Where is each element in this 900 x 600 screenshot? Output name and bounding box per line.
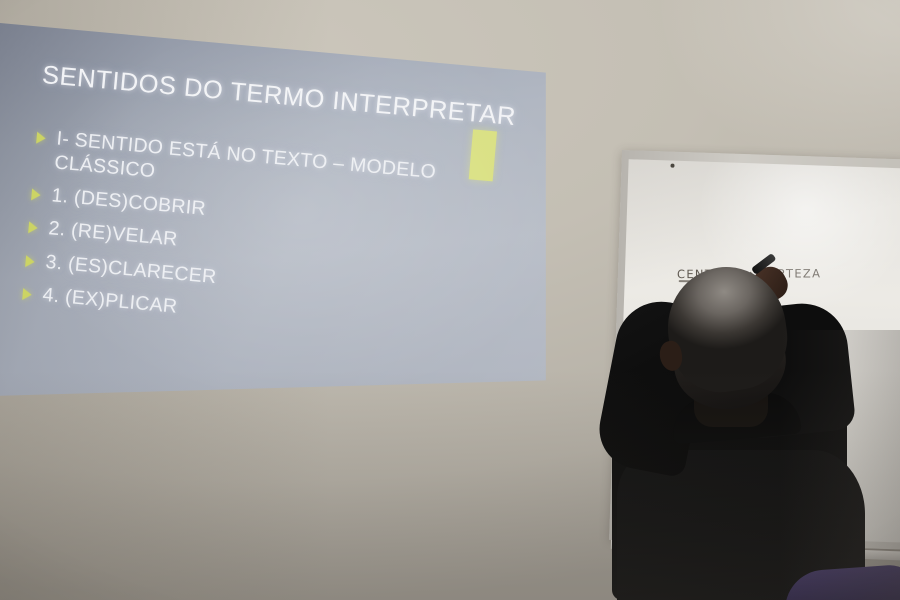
slide-accent-rectangle xyxy=(469,129,497,181)
triangle-bullet-icon xyxy=(36,132,46,145)
triangle-bullet-icon xyxy=(22,288,32,301)
slide-content: SENTIDOS DO TERMO INTERPRETAR I- SENTIDO… xyxy=(0,8,554,449)
bullet-text: 1. (DES)COBRIR xyxy=(51,184,207,220)
bullet-text: 2. (RE)VELAR xyxy=(48,217,179,250)
whiteboard-screw xyxy=(670,164,674,168)
presenter xyxy=(590,255,900,600)
classroom-scene: SENTIDOS DO TERMO INTERPRETAR I- SENTIDO… xyxy=(0,0,900,600)
triangle-bullet-icon xyxy=(25,255,35,268)
slide-title: SENTIDOS DO TERMO INTERPRETAR xyxy=(41,61,472,128)
triangle-bullet-icon xyxy=(28,221,38,234)
bullet-text: 4. (EX)PLICAR xyxy=(42,284,178,318)
bullet-text: 3. (ES)CLARECER xyxy=(45,250,218,287)
projected-slide: SENTIDOS DO TERMO INTERPRETAR I- SENTIDO… xyxy=(0,8,556,400)
triangle-bullet-icon xyxy=(31,188,41,201)
slide-bullet-list: I- SENTIDO ESTÁ NO TEXTO – MODELO CLÁSSI… xyxy=(21,125,466,353)
